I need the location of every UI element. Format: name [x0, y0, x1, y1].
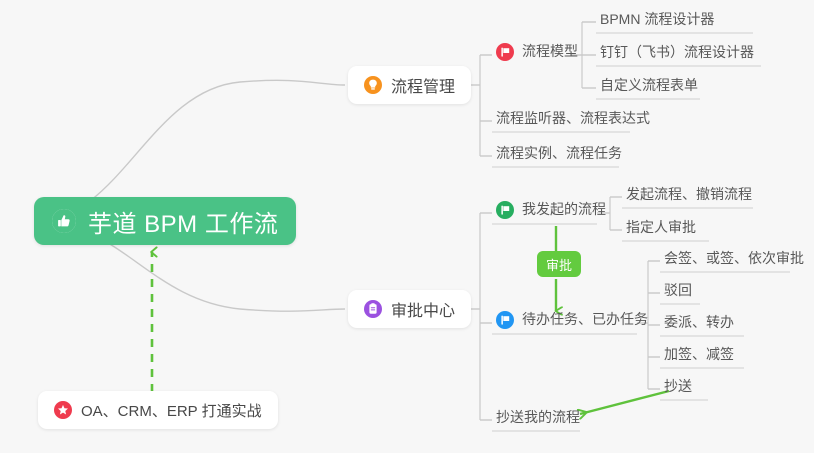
node-my-started-process[interactable]: 我发起的流程 — [492, 199, 610, 222]
clipboard-icon — [364, 300, 382, 318]
root-label: 芋道 BPM 工作流 — [88, 204, 278, 239]
thumbs-up-icon — [52, 209, 76, 233]
flag-icon — [496, 201, 514, 219]
lightbulb-icon — [364, 76, 382, 94]
node-label-assigned-approval: 指定人审批 — [626, 217, 696, 237]
node-bpmn-designer[interactable]: BPMN 流程设计器 — [596, 9, 718, 32]
node-label-delegate-transfer: 委派、转办 — [664, 312, 734, 332]
node-start-cancel-process[interactable]: 发起流程、撤销流程 — [622, 184, 756, 207]
node-dingtalk-feishu-designer[interactable]: 钉钉（飞书）流程设计器 — [596, 42, 758, 65]
node-label-reject: 驳回 — [664, 280, 692, 300]
mindmap-canvas: 芋道 BPM 工作流 流程管理 流程模型 BPMN 流程设计器 钉钉（飞书）流程… — [0, 0, 814, 453]
node-label-process-listener: 流程监听器、流程表达式 — [496, 108, 650, 128]
node-label-add-remove-sign: 加签、减签 — [664, 344, 734, 364]
bottom-annotation-card[interactable]: OA、CRM、ERP 打通实战 — [38, 391, 278, 429]
node-custom-form[interactable]: 自定义流程表单 — [596, 75, 702, 98]
node-label-my-started-process: 我发起的流程 — [522, 199, 606, 219]
approval-tag-label: 审批 — [546, 255, 572, 274]
node-label-bpmn-designer: BPMN 流程设计器 — [600, 9, 714, 29]
branch-node-approval-center[interactable]: 审批中心 — [348, 290, 471, 328]
node-cc[interactable]: 抄送 — [660, 376, 696, 399]
node-label-dingtalk-feishu-designer: 钉钉（飞书）流程设计器 — [600, 42, 754, 62]
node-cc-my-process[interactable]: 抄送我的流程 — [492, 407, 584, 430]
node-label-process-model: 流程模型 — [522, 41, 578, 61]
node-reject[interactable]: 驳回 — [660, 280, 696, 303]
node-add-remove-sign[interactable]: 加签、减签 — [660, 344, 738, 367]
branch-label-process-management: 流程管理 — [391, 73, 455, 97]
node-label-todo-done-tasks: 待办任务、已办任务 — [522, 309, 648, 329]
bottom-annotation-label: OA、CRM、ERP 打通实战 — [81, 400, 262, 421]
node-label-cc: 抄送 — [664, 376, 692, 396]
flag-icon — [496, 311, 514, 329]
node-countersign-approval[interactable]: 会签、或签、依次审批 — [660, 248, 808, 271]
branch-node-process-management[interactable]: 流程管理 — [348, 66, 471, 104]
node-label-process-instance: 流程实例、流程任务 — [496, 143, 622, 163]
node-process-model[interactable]: 流程模型 — [492, 41, 582, 64]
branch-label-approval-center: 审批中心 — [391, 297, 455, 321]
flag-icon — [496, 43, 514, 61]
node-label-cc-my-process: 抄送我的流程 — [496, 407, 580, 427]
node-todo-done-tasks[interactable]: 待办任务、已办任务 — [492, 309, 652, 332]
node-assigned-approval[interactable]: 指定人审批 — [622, 217, 700, 240]
node-label-start-cancel-process: 发起流程、撤销流程 — [626, 184, 752, 204]
arrow-cc-to-ccprocess — [580, 391, 669, 414]
node-delegate-transfer[interactable]: 委派、转办 — [660, 312, 738, 335]
star-icon — [54, 401, 72, 419]
node-label-custom-form: 自定义流程表单 — [600, 75, 698, 95]
node-process-listener[interactable]: 流程监听器、流程表达式 — [492, 108, 654, 131]
root-node[interactable]: 芋道 BPM 工作流 — [34, 197, 296, 245]
approval-tag-badge[interactable]: 审批 — [537, 251, 581, 277]
node-process-instance[interactable]: 流程实例、流程任务 — [492, 143, 626, 166]
node-label-countersign-approval: 会签、或签、依次审批 — [664, 248, 804, 268]
